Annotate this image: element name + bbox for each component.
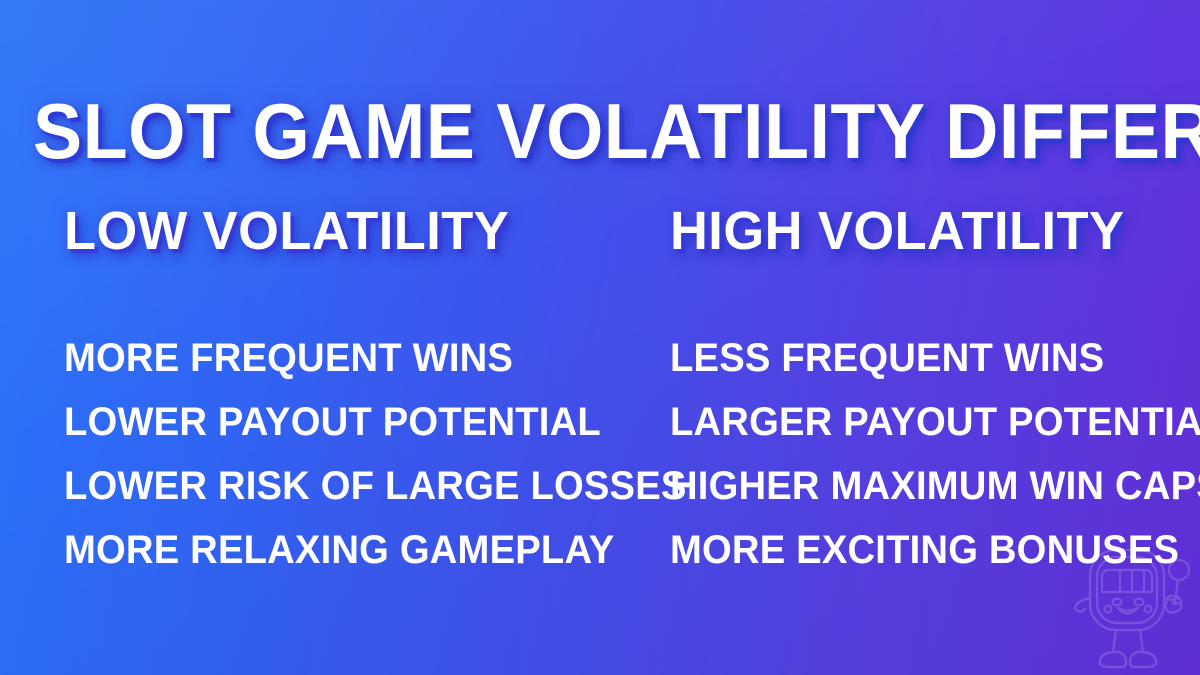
list-item: LOWER PAYOUT POTENTIAL — [64, 400, 599, 444]
list-item: MORE EXCITING BONUSES — [670, 528, 1167, 572]
slide-content-layer: SLOT GAME VOLATILITY DIFFERENCES LOW VOL… — [0, 0, 1200, 675]
list-item: HIGHER MAXIMUM WIN CAPS — [670, 464, 1167, 508]
list-item: LARGER PAYOUT POTENTIAL — [670, 400, 1167, 444]
page-title: SLOT GAME VOLATILITY DIFFERENCES — [33, 90, 1167, 172]
list-item: MORE RELAXING GAMEPLAY — [64, 528, 599, 572]
column-low-volatility: LOW VOLATILITY MORE FREQUENT WINS LOWER … — [64, 200, 624, 572]
column-heading-low-volatility: LOW VOLATILITY — [64, 200, 607, 262]
bullet-list-low-volatility: MORE FREQUENT WINS LOWER PAYOUT POTENTIA… — [64, 336, 624, 572]
column-high-volatility: HIGH VOLATILITY LESS FREQUENT WINS LARGE… — [670, 200, 1190, 572]
bullet-list-high-volatility: LESS FREQUENT WINS LARGER PAYOUT POTENTI… — [670, 336, 1190, 572]
list-item: LESS FREQUENT WINS — [670, 336, 1167, 380]
column-heading-high-volatility: HIGH VOLATILITY — [670, 200, 1174, 262]
list-item: LOWER RISK OF LARGE LOSSES — [64, 464, 599, 508]
slide-canvas: SLOT GAME VOLATILITY DIFFERENCES LOW VOL… — [0, 0, 1200, 675]
list-item: MORE FREQUENT WINS — [64, 336, 599, 380]
